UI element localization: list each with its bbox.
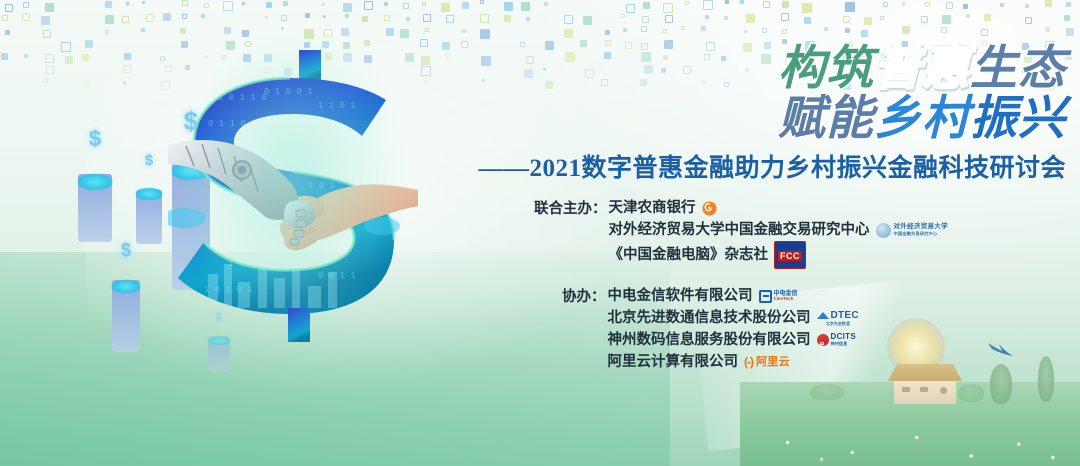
title-seg-xiangcun: 乡村 <box>874 94 970 142</box>
tree-icon <box>1038 356 1054 402</box>
fcc-logo-text: FCC <box>778 251 802 261</box>
supporter-line-dcits: 神州数码信息服务股份有限公司 DCITS 神州信息 <box>608 329 859 351</box>
dcits-logo-sub: 神州信息 <box>831 342 857 346</box>
aliyun-bracket-icon: (-) <box>744 351 753 373</box>
credits-block: 联合主办： 天津农商银行 对外经济贸易大学中国金融交易研究中心 <box>534 197 954 389</box>
cetc-emblem-icon <box>759 290 772 303</box>
swallow-bird-icon <box>986 340 1014 358</box>
dtec-logo-text: DTEC <box>831 311 859 321</box>
cetc-logo-icon: 中电金信 CienTech <box>759 290 798 303</box>
promo-banner: $ $ $ $ $ <box>0 0 1080 466</box>
dollar-sign-graphic: 1 0 1 1 0 0 1 0 0 1 1 1 0 1 0 1 1 0 1 0 … <box>168 42 418 352</box>
dcits-logo-icon: DCITS 神州信息 <box>817 333 857 346</box>
supporter-line-dtec: 北京先进数通信息技术股份公司 DTEC 北京先进数通 <box>608 307 859 329</box>
host-name-fcc: 《中国金融电脑》杂志社 <box>609 244 769 266</box>
host-line-uibe: 对外经济贸易大学中国金融交易研究中心 对外经济贸易大学 中国金融交易研究中心 <box>609 219 948 241</box>
tjrcb-logo-icon <box>702 201 717 216</box>
title-seg-funeng: 赋能 <box>778 94 874 142</box>
title-seg-shengtai: 生态 <box>970 44 1066 92</box>
dtec-logo-sub: 北京先进数通 <box>826 322 850 326</box>
title-line-1: 构筑普惠生态 <box>486 44 1066 92</box>
coin-tower: $ <box>78 150 112 242</box>
credit-label-supporters: 协办： <box>562 285 606 373</box>
fcc-logo-icon: FCC <box>774 241 806 269</box>
uibe-logo-name: 对外经济贸易大学 <box>894 224 948 231</box>
uibe-logo-sub: 中国金融交易研究中心 <box>894 232 948 236</box>
tree-icon <box>990 364 1012 404</box>
uibe-logo-icon: 对外经济贸易大学 中国金融交易研究中心 <box>876 223 948 238</box>
banner-subtitle: ——2021数字普惠金融助力乡村振兴金融科技研讨会 <box>466 148 1066 184</box>
supporter-name-dtec: 北京先进数通信息技术股份公司 <box>608 307 811 329</box>
coin-tower: $ <box>112 260 140 352</box>
dcits-emblem-icon <box>817 334 829 346</box>
credit-label-hosts: 联合主办： <box>534 197 607 269</box>
title-seg-puhui: 普惠 <box>874 44 970 92</box>
title-line-2: 赋能乡村振兴 <box>486 94 1066 142</box>
dollar-handshake-artwork: $ $ $ $ $ <box>60 42 490 372</box>
supporter-name-cetc: 中电金信软件有限公司 <box>608 285 753 307</box>
cetc-logo-sub: CienTech <box>774 297 798 302</box>
host-line-tjrcb: 天津农商银行 <box>609 197 948 219</box>
supporter-line-cetc: 中电金信软件有限公司 中电金信 CienTech <box>608 285 859 307</box>
supporter-name-aliyun: 阿里云计算有限公司 <box>608 351 739 373</box>
credit-group-hosts: 联合主办： 天津农商银行 对外经济贸易大学中国金融交易研究中心 <box>534 197 954 269</box>
credit-group-supporters: 协办： 中电金信软件有限公司 中电金信 CienTech 北京先进数通信息技术股… <box>534 285 954 373</box>
aliyun-logo-icon: (-) 阿里云 <box>744 351 790 373</box>
title-seg-zhenxing: 振兴 <box>970 94 1066 142</box>
aliyun-logo-text: 阿里云 <box>756 351 790 373</box>
dtec-emblem-icon <box>817 312 829 319</box>
banner-title: 构筑普惠生态 赋能乡村振兴 <box>486 44 1066 142</box>
host-name-tjrcb: 天津农商银行 <box>609 197 696 219</box>
uibe-emblem-icon <box>876 223 891 238</box>
title-seg-gouzhu: 构筑 <box>778 44 874 92</box>
host-name-uibe: 对外经济贸易大学中国金融交易研究中心 <box>609 219 870 241</box>
host-line-fcc: 《中国金融电脑》杂志社 FCC <box>609 241 948 269</box>
coin-tower: $ <box>136 170 162 244</box>
supporter-name-dcits: 神州数码信息服务股份有限公司 <box>608 329 811 351</box>
dtec-logo-icon: DTEC 北京先进数通 <box>817 311 859 326</box>
